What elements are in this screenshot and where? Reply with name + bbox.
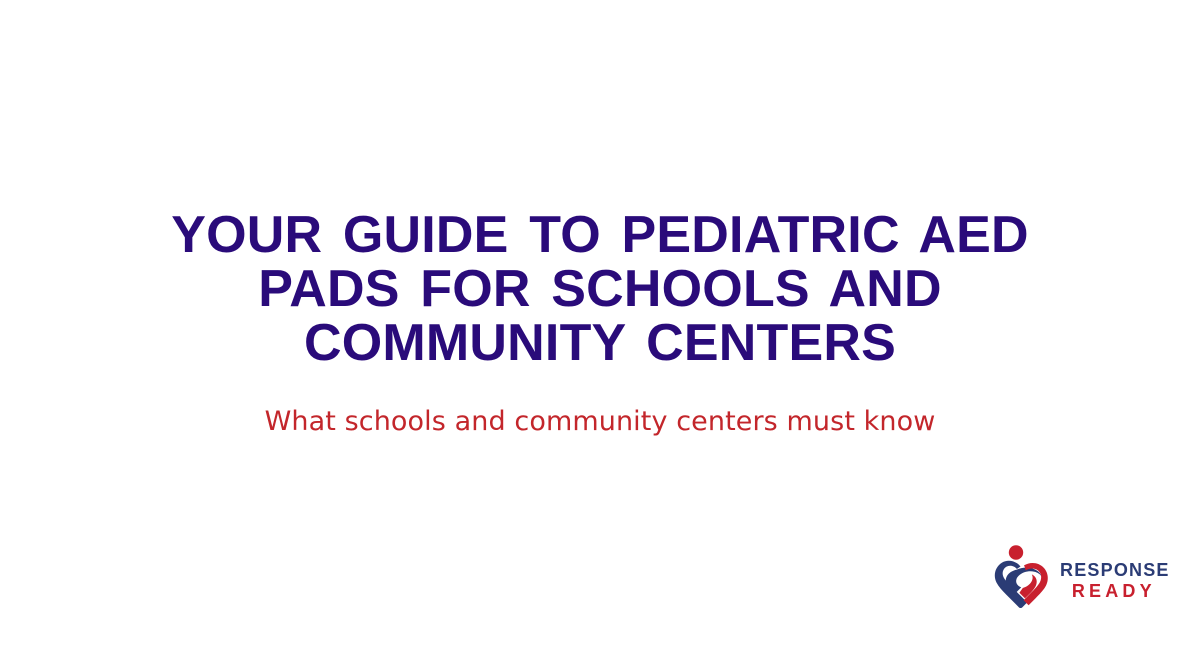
page-title: YOUR GUIDE TO PEDIATRIC AED PADS FOR SCH… xyxy=(0,208,1200,370)
title-slide: YOUR GUIDE TO PEDIATRIC AED PADS FOR SCH… xyxy=(0,0,1200,646)
page-subtitle: What schools and community centers must … xyxy=(0,370,1200,438)
title-block: YOUR GUIDE TO PEDIATRIC AED PADS FOR SCH… xyxy=(0,208,1200,438)
logo-word-ready: READY xyxy=(1060,581,1170,602)
logo-word-response: RESPONSE xyxy=(1060,560,1170,581)
heart-person-icon xyxy=(992,544,1050,614)
brand-logo: RESPONSE READY xyxy=(992,540,1162,618)
logo-head-dot xyxy=(1009,545,1023,559)
logo-wordmark: RESPONSE READY xyxy=(1060,556,1170,602)
